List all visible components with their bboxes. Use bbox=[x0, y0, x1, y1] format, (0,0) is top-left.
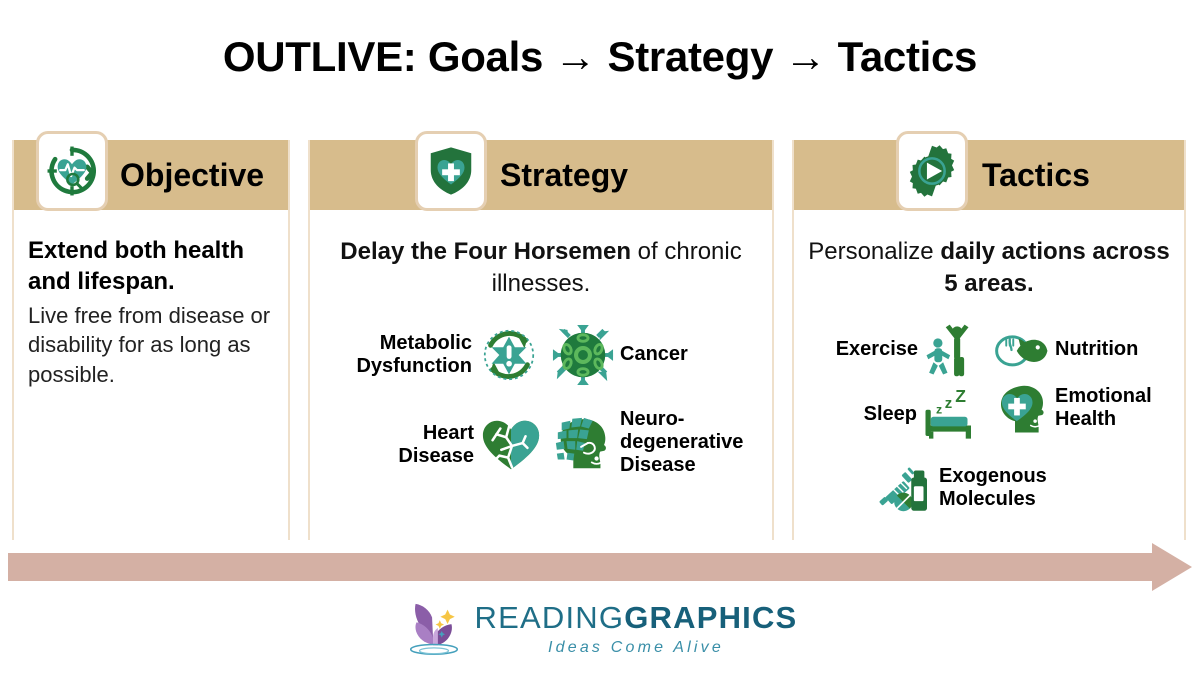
tactics-lead-text: Personalize daily actions across 5 areas… bbox=[808, 236, 1170, 300]
tactic-label: Exogenous Molecules bbox=[939, 465, 1099, 511]
svg-text:z: z bbox=[945, 396, 952, 412]
objective-sub-text: Live free from disease or disability for… bbox=[28, 301, 274, 388]
column-objective: Objective Extend both health and lifespa… bbox=[12, 140, 290, 540]
progress-arrow bbox=[0, 543, 1200, 591]
tactic-sleep: Sleep z z Z bbox=[841, 387, 978, 443]
logo-tagline: Ideas Come Alive bbox=[548, 639, 724, 657]
logo-word-reading: READING bbox=[475, 600, 625, 635]
logo-wordmark: READINGGRAPHICS bbox=[475, 602, 798, 633]
objective-lead-text: Extend both health and lifespan. bbox=[28, 236, 274, 297]
horseman-cancer: Cancer bbox=[552, 324, 688, 386]
horseman-label: Neuro-degenerative Disease bbox=[620, 408, 770, 478]
column-heading-strategy: Strategy bbox=[500, 157, 628, 194]
horseman-label: Cancer bbox=[620, 343, 688, 366]
tactics-lead-plain: Personalize bbox=[808, 238, 940, 265]
column-tactics: Tactics Personalize daily actions across… bbox=[792, 140, 1186, 540]
syringe-pill-bottle-icon bbox=[878, 460, 934, 516]
column-heading-tactics: Tactics bbox=[982, 157, 1090, 194]
horseman-metabolic-dysfunction: Metabolic Dysfunction bbox=[332, 324, 552, 386]
shield-heart-cross-icon bbox=[415, 131, 487, 211]
svg-text:z: z bbox=[936, 402, 942, 416]
tactic-label: Sleep bbox=[841, 403, 917, 426]
columns-container: Objective Extend both health and lifespa… bbox=[12, 140, 1188, 540]
exercise-people-icon bbox=[923, 322, 979, 378]
virus-cell-icon bbox=[552, 324, 614, 386]
horseman-neurodegenerative-disease: Neuro-degenerative Disease bbox=[552, 408, 770, 478]
heart-pulse-cycle-icon bbox=[36, 131, 108, 211]
column-header-objective: Objective bbox=[14, 140, 288, 210]
tactic-exogenous-molecules: Exogenous Molecules bbox=[878, 460, 1099, 516]
tactic-label: Exercise bbox=[814, 338, 918, 361]
head-brain-fragment-icon bbox=[552, 412, 614, 474]
svg-text:Z: Z bbox=[955, 387, 966, 406]
fish-plate-icon bbox=[994, 322, 1050, 378]
logo-text-block: READINGGRAPHICS Ideas Come Alive bbox=[475, 602, 798, 657]
column-body-objective: Extend both health and lifespan. Live fr… bbox=[14, 236, 288, 389]
horseman-label: Heart Disease bbox=[362, 422, 474, 468]
gear-play-icon bbox=[896, 131, 968, 211]
column-body-tactics: Personalize daily actions across 5 areas… bbox=[794, 236, 1184, 542]
tactic-exercise: Exercise bbox=[814, 322, 979, 378]
cracked-heart-icon bbox=[480, 414, 542, 476]
strategy-lead-text: Delay the Four Horsemen of chronic illne… bbox=[324, 236, 758, 300]
tactic-label: Emotional Health bbox=[1055, 385, 1170, 431]
metabolic-cycle-warning-icon bbox=[478, 324, 540, 386]
infographic-page: OUTLIVE: Goals → Strategy → Tactics bbox=[0, 0, 1200, 700]
tactic-label: Nutrition bbox=[1055, 338, 1138, 361]
tactic-nutrition: Nutrition bbox=[994, 322, 1138, 378]
column-header-tactics: Tactics bbox=[794, 140, 1184, 210]
four-horsemen-group: Metabolic Dysfunction bbox=[324, 318, 758, 533]
tactics-group: Exercise bbox=[808, 312, 1170, 542]
head-heart-cross-icon bbox=[994, 380, 1050, 436]
bed-zzz-icon: z z Z bbox=[922, 387, 978, 443]
tactic-emotional-health: Emotional Health bbox=[994, 380, 1170, 436]
column-strategy: Strategy Delay the Four Horsemen of chro… bbox=[308, 140, 774, 540]
column-body-strategy: Delay the Four Horsemen of chronic illne… bbox=[310, 236, 772, 533]
footer-logo: READINGGRAPHICS Ideas Come Alive bbox=[0, 598, 1200, 660]
horseman-label: Metabolic Dysfunction bbox=[332, 332, 472, 378]
logo-word-graphics: GRAPHICS bbox=[624, 600, 797, 635]
strategy-lead-bold: Delay the Four Horsemen bbox=[340, 238, 631, 265]
page-title: OUTLIVE: Goals → Strategy → Tactics bbox=[0, 33, 1200, 81]
column-heading-objective: Objective bbox=[120, 157, 264, 194]
open-book-sparkle-icon bbox=[403, 598, 465, 660]
tactics-lead-bold: daily actions across 5 areas. bbox=[940, 238, 1169, 297]
horseman-heart-disease: Heart Disease bbox=[362, 414, 552, 476]
column-header-strategy: Strategy bbox=[310, 140, 772, 210]
